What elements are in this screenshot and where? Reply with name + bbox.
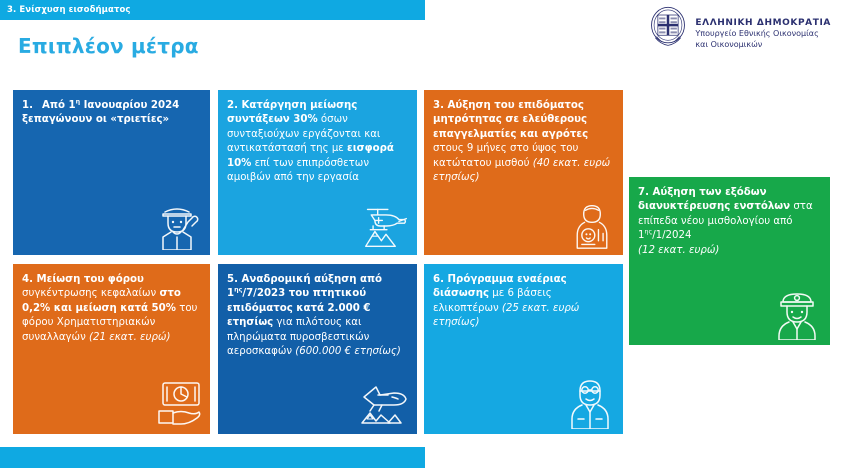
measure-card-7-italic-1: (12 εκατ. ευρώ) bbox=[638, 245, 719, 256]
measure-card-5: 5. Αναδρομική αύξηση από 1ης/7/2023 του … bbox=[218, 264, 417, 434]
greek-coat-of-arms-icon bbox=[649, 6, 687, 48]
measure-card-1: 1.Από 1η Ιανουαρίου 2024 ξεπαγώνουν οι «… bbox=[13, 90, 210, 255]
helicopter-over-mountains-icon bbox=[362, 202, 410, 250]
measure-card-1-text: 1.Από 1η Ιανουαρίου 2024 ξεπαγώνουν οι «… bbox=[22, 99, 200, 128]
money-in-hand-icon bbox=[151, 377, 203, 429]
measure-card-4-italic-1: (21 εκατ. ευρώ) bbox=[89, 332, 170, 343]
bottom-accent-bar bbox=[0, 447, 425, 468]
measure-card-2-text: 2. Κατάργηση μείωσης συντάξεων 30% όσων … bbox=[227, 99, 407, 186]
measure-card-4-text: 4. Μείωση του φόρου συγκέντρωσης κεφαλαί… bbox=[22, 273, 200, 345]
rescue-pilot-icon bbox=[564, 377, 616, 429]
government-identity: ΕΛΛΗΝΙΚΗ ΔΗΜΟΚΡΑΤΙΑ Υπουργείο Εθνικής Οι… bbox=[649, 6, 831, 51]
measure-card-4: 4. Μείωση του φόρου συγκέντρωσης κεφαλαί… bbox=[13, 264, 210, 434]
measure-card-4-normal-1: συγκέντρωσης κεφαλαίων bbox=[22, 288, 159, 299]
measure-card-3: 3. Αύξηση του επιδόματος μητρότητας σε ε… bbox=[424, 90, 623, 255]
measure-card-7-text: 7. Αύξηση των εξόδων διανυκτέρευσης ενστ… bbox=[638, 186, 820, 258]
ministry-line-3: και Οικονομικών bbox=[695, 40, 831, 51]
measure-card-7-normal-2: /1/2024 bbox=[652, 230, 691, 241]
measure-card-5-text: 5. Αναδρομική αύξηση από 1ης/7/2023 του … bbox=[227, 273, 407, 360]
measure-card-3-text: 3. Αύξηση του επιδόματος μητρότητας σε ε… bbox=[433, 99, 613, 186]
uniformed-officer-icon bbox=[771, 288, 823, 340]
measure-card-6-text: 6. Πρόγραμμα εναέριας διάσωσης με 6 βάσε… bbox=[433, 273, 613, 331]
measure-card-4-bold-1: 4. Μείωση του φόρου bbox=[22, 274, 144, 285]
section-bar-label: 3. Ενίσχυση εισοδήματος bbox=[0, 5, 131, 15]
worker-with-wrench-icon bbox=[151, 198, 203, 250]
measure-card-2: 2. Κατάργηση μείωσης συντάξεων 30% όσων … bbox=[218, 90, 417, 255]
slide-canvas: 3. Ενίσχυση εισοδήματος ΕΛΛΗΝΙΚΗ ΔΗΜΟΚΡΑ… bbox=[0, 0, 843, 472]
ministry-text: ΕΛΛΗΝΙΚΗ ΔΗΜΟΚΡΑΤΙΑ Υπουργείο Εθνικής Οι… bbox=[695, 6, 831, 51]
measure-card-3-bold-1: 3. Αύξηση του επιδόματος μητρότητας σε ε… bbox=[433, 100, 588, 140]
measure-card-6: 6. Πρόγραμμα εναέριας διάσωσης με 6 βάσε… bbox=[424, 264, 623, 434]
ministry-line-1: ΕΛΛΗΝΙΚΗ ΔΗΜΟΚΡΑΤΙΑ bbox=[695, 18, 831, 28]
ministry-line-2: Υπουργείο Εθνικής Οικονομίας bbox=[695, 29, 831, 40]
mother-and-baby-icon bbox=[568, 202, 616, 250]
measure-card-7-bold-1: 7. Αύξηση των εξόδων διανυκτέρευσης ενστ… bbox=[638, 187, 790, 212]
measure-card-5-italic-1: (600.000 € ετησίως) bbox=[295, 346, 401, 357]
measure-card-1-number: 1. bbox=[22, 99, 42, 113]
section-bar: 3. Ενίσχυση εισοδήματος bbox=[0, 0, 425, 20]
page-title: Επιπλέον μέτρα bbox=[18, 34, 199, 58]
measure-card-7: 7. Αύξηση των εξόδων διανυκτέρευσης ενστ… bbox=[629, 177, 830, 345]
firefighting-airplane-icon bbox=[358, 377, 410, 429]
